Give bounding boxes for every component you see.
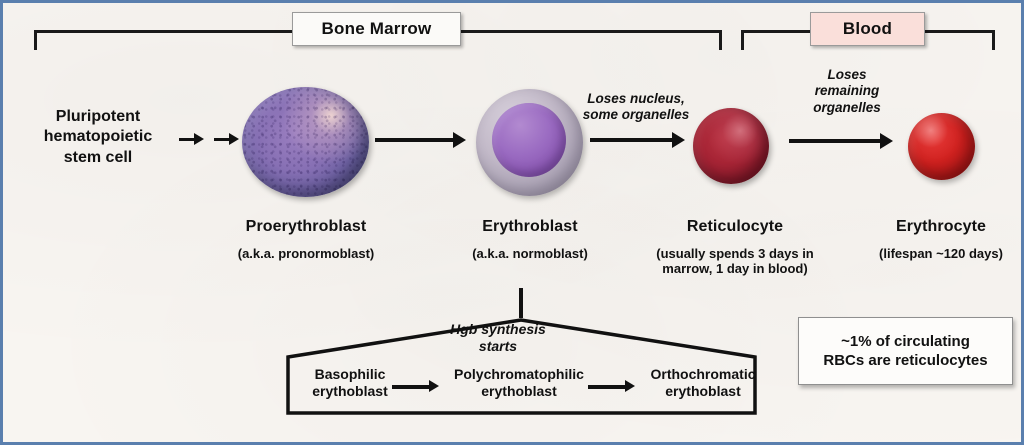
compartment-label-bone-marrow: Bone Marrow	[292, 12, 461, 46]
compartment-label-blood: Blood	[810, 12, 925, 46]
cell-reticulocyte	[693, 108, 769, 184]
arrow-proerythroblast-to-erythroblast-head	[453, 132, 466, 148]
compartment-label-bone-marrow-text: Bone Marrow	[322, 19, 432, 39]
cell-erythroblast	[476, 89, 583, 196]
transition-note-line-1: Loses	[793, 67, 901, 83]
stage-name-reticulocyte: Reticulocyte	[644, 218, 826, 237]
bone-marrow-bracket-left-tick	[34, 30, 37, 50]
detail-box-caption: Hgb synthesis starts	[403, 321, 593, 355]
cell-proerythroblast-chromatin-texture	[242, 87, 369, 197]
stage-subtitle-erythrocyte: (lifespan ~120 days)	[851, 246, 1024, 261]
stage-label-erythrocyte: Erythrocyte (lifespan ~120 days)	[851, 218, 1024, 261]
reticulocyte-fact-callout: ~1% of circulating RBCs are reticulocyte…	[798, 317, 1013, 385]
arrow-stem-2-shaft	[214, 138, 230, 141]
blood-bracket-right-rail	[925, 30, 995, 33]
arrow-reticulocyte-to-erythrocyte-shaft	[789, 139, 881, 143]
bone-marrow-bracket-right-rail	[461, 30, 722, 33]
detail-box-caption-line-1: Hgb synthesis	[403, 321, 593, 338]
cell-proerythroblast	[242, 87, 369, 197]
arrow-erythroblast-to-reticulocyte-head	[672, 132, 685, 148]
transition-note-erythroblast-to-reticulocyte: Loses nucleus, some organelles	[571, 91, 701, 124]
reticulocyte-fact-line-1: ~1% of circulating	[823, 332, 987, 352]
cell-erythrocyte	[908, 113, 975, 180]
arrow-stem-1-head	[194, 133, 204, 145]
detail-substage-orthochromatic: Orthochromatic erythoblast	[635, 366, 771, 400]
bone-marrow-bracket-left-rail	[34, 30, 292, 33]
arrow-polychromatophilic-to-orthochromatic-head	[625, 380, 635, 392]
arrow-reticulocyte-to-erythrocyte-head	[880, 133, 893, 149]
stage-label-reticulocyte: Reticulocyte (usually spends 3 days in m…	[644, 218, 826, 277]
transition-note-reticulocyte-to-erythrocyte: Loses remaining organelles	[793, 67, 901, 116]
stem-cell-label-line-1: Pluripotent	[23, 107, 173, 127]
arrow-erythroblast-to-reticulocyte-shaft	[590, 138, 673, 142]
detail-substage-polychromatophilic: Polychromatophilic erythoblast	[439, 366, 599, 400]
blood-bracket-right-tick	[992, 30, 995, 50]
cell-erythroblast-nucleus	[492, 103, 566, 177]
arrow-stem-2-head	[229, 133, 239, 145]
detail-substage-polychromatophilic-line-2: erythoblast	[439, 383, 599, 400]
arrow-polychromatophilic-to-orthochromatic-shaft	[588, 385, 626, 389]
stage-name-erythrocyte: Erythrocyte	[851, 218, 1024, 237]
blood-bracket-left-tick	[741, 30, 744, 50]
detail-substage-basophilic: Basophilic erythoblast	[291, 366, 409, 400]
stage-subtitle-proerythroblast: (a.k.a. pronormoblast)	[203, 246, 409, 261]
stage-subtitle-erythroblast: (a.k.a. normoblast)	[433, 246, 627, 261]
detail-box-caption-line-2: starts	[403, 338, 593, 355]
stem-cell-label-line-2: hematopoietic	[23, 127, 173, 147]
stage-name-proerythroblast: Proerythroblast	[203, 218, 409, 237]
transition-note-line-1: Loses nucleus,	[571, 91, 701, 107]
stage-name-erythroblast: Erythroblast	[433, 218, 627, 237]
bone-marrow-bracket-right-tick	[719, 30, 722, 50]
stage-subtitle-reticulocyte-line-2: marrow, 1 day in blood)	[644, 261, 826, 276]
stage-subtitle-reticulocyte-line-1: (usually spends 3 days in	[644, 246, 826, 261]
stem-cell-label-line-3: stem cell	[23, 148, 173, 168]
detail-substage-polychromatophilic-line-1: Polychromatophilic	[439, 366, 599, 383]
erythropoiesis-diagram: Bone Marrow Blood Pluripotent hematopoie…	[0, 0, 1024, 445]
reticulocyte-fact-line-2: RBCs are reticulocytes	[823, 351, 987, 371]
arrow-basophilic-to-polychromatophilic-shaft	[392, 385, 430, 389]
detail-substage-basophilic-line-1: Basophilic	[291, 366, 409, 383]
transition-note-line-3: organelles	[793, 100, 901, 116]
stem-cell-label: Pluripotent hematopoietic stem cell	[23, 107, 173, 168]
detail-substage-orthochromatic-line-1: Orthochromatic	[635, 366, 771, 383]
arrow-proerythroblast-to-erythroblast-shaft	[375, 138, 454, 142]
stage-label-erythroblast: Erythroblast (a.k.a. normoblast)	[433, 218, 627, 261]
blood-bracket-left-rail	[741, 30, 810, 33]
detail-substage-orthochromatic-line-2: erythoblast	[635, 383, 771, 400]
transition-note-line-2: some organelles	[571, 107, 701, 123]
stage-label-proerythroblast: Proerythroblast (a.k.a. pronormoblast)	[203, 218, 409, 261]
transition-note-line-2: remaining	[793, 83, 901, 99]
arrow-basophilic-to-polychromatophilic-head	[429, 380, 439, 392]
arrow-stem-1-shaft	[179, 138, 195, 141]
compartment-label-blood-text: Blood	[843, 19, 892, 39]
